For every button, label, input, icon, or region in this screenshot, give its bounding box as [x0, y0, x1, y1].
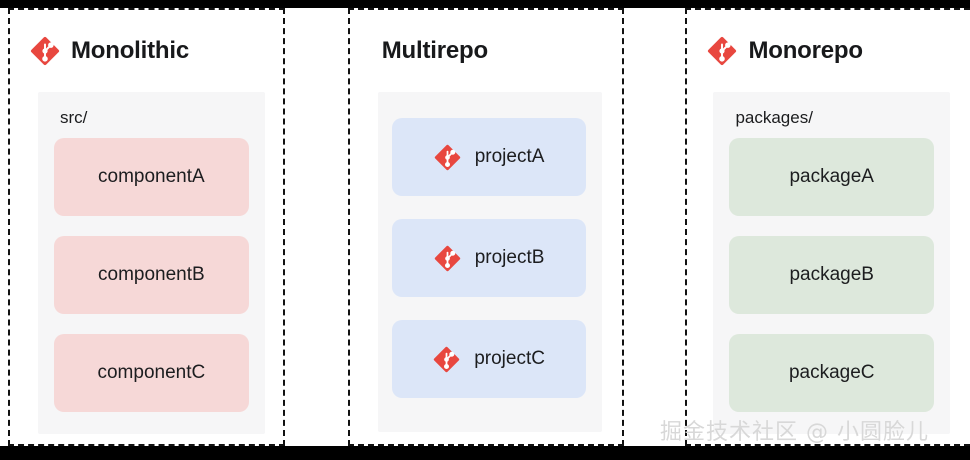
git-logo-icon [30, 36, 60, 66]
item-list-monolithic: componentA componentB componentC [54, 138, 249, 418]
git-logo-icon [707, 36, 737, 66]
item-label: componentC [97, 362, 205, 384]
list-item[interactable]: packageB [729, 236, 934, 314]
list-item[interactable]: projectB [392, 219, 587, 297]
columns-container: Monolithic src/ componentA componentB co… [0, 8, 970, 446]
list-item[interactable]: componentB [54, 236, 249, 314]
item-label: projectC [474, 348, 545, 370]
panel-header-monolithic: Monolithic [10, 10, 283, 92]
list-item[interactable]: packageC [729, 334, 934, 412]
panel-monolithic: Monolithic src/ componentA componentB co… [8, 8, 285, 446]
item-label: projectB [475, 247, 545, 269]
inner-panel-monolithic: src/ componentA componentB componentC [38, 92, 265, 434]
dir-label-monolithic: src/ [54, 106, 249, 138]
item-label: componentB [98, 264, 205, 286]
git-logo-icon [433, 346, 460, 373]
panel-title-monolithic: Monolithic [71, 37, 189, 65]
inner-panel-monorepo: packages/ packageA packageB packageC [713, 92, 950, 434]
item-label: packageA [789, 166, 874, 188]
git-logo-icon [434, 144, 461, 171]
watermark: 掘金技术社区 @ 小圆脸儿 [660, 414, 929, 446]
list-item[interactable]: projectC [392, 320, 587, 398]
item-label: componentA [98, 166, 205, 188]
git-logo-icon [434, 245, 461, 272]
panel-title-multirepo: Multirepo [382, 37, 488, 65]
item-label: packageB [789, 264, 874, 286]
list-item[interactable]: projectA [392, 118, 587, 196]
dir-label-monorepo: packages/ [729, 106, 934, 138]
panel-title-monorepo: Monorepo [748, 37, 862, 65]
item-list-multirepo: projectA [392, 118, 587, 406]
list-item[interactable]: packageA [729, 138, 934, 216]
list-item[interactable]: componentA [54, 138, 249, 216]
diagram-canvas: Monolithic src/ componentA componentB co… [0, 0, 970, 460]
panel-multirepo: Multirepo [348, 8, 625, 446]
item-list-monorepo: packageA packageB packageC [729, 138, 934, 418]
panel-monorepo: Monorepo packages/ packageA packageB pac… [685, 8, 970, 446]
panel-header-multirepo: Multirepo [350, 10, 623, 92]
item-label: packageC [789, 362, 875, 384]
panel-header-monorepo: Monorepo [687, 10, 970, 92]
inner-panel-multirepo: projectA [378, 92, 603, 432]
item-label: projectA [475, 146, 545, 168]
list-item[interactable]: componentC [54, 334, 249, 412]
